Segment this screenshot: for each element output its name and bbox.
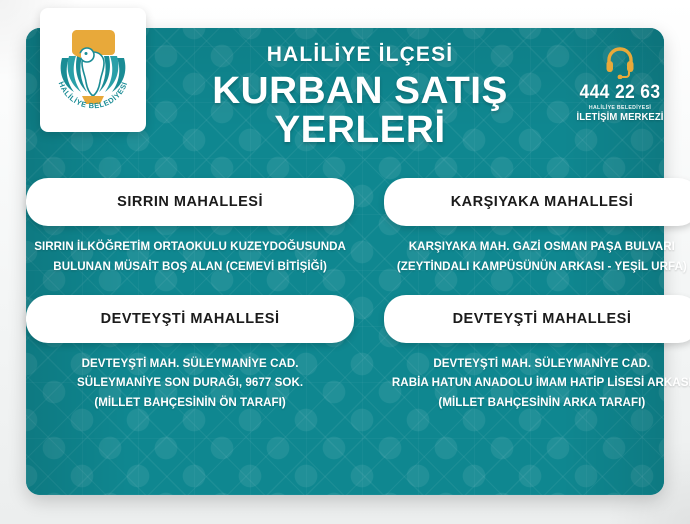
location-address: DEVTEYŞTİ MAH. SÜLEYMANİYE CAD. RABİA HA… bbox=[392, 354, 690, 413]
contact-municipality-label: HALİLİYE BELEDİYESİ bbox=[571, 105, 670, 111]
header-kicker: HALİLİYE İLÇESİ bbox=[160, 44, 560, 65]
location-card: DEVTEYŞTİ MAHALLESİ DEVTEYŞTİ MAH. SÜLEY… bbox=[26, 295, 354, 413]
address-line: SIRRIN İLKÖĞRETİM ORTAOKULU KUZEYDOĞUSUN… bbox=[34, 237, 346, 257]
location-title: DEVTEYŞTİ MAHALLESİ bbox=[101, 311, 280, 327]
address-line: (MİLLET BAHÇESİNİN ÖN TARAFI) bbox=[34, 393, 346, 413]
address-line: KARŞIYAKA MAH. GAZİ OSMAN PAŞA BULVARI bbox=[392, 237, 690, 257]
municipality-logo-plaque: HALİLİYE BELEDİYESİ bbox=[40, 8, 146, 132]
contact-center-label: İLETİŞİM MERKEZİ bbox=[571, 112, 670, 123]
haliliye-belediyesi-logo-icon: HALİLİYE BELEDİYESİ bbox=[50, 22, 136, 118]
location-card: KARŞIYAKA MAHALLESİ KARŞIYAKA MAH. GAZİ … bbox=[384, 178, 690, 277]
location-title-pill[interactable]: DEVTEYŞTİ MAHALLESİ bbox=[26, 295, 354, 343]
location-title-pill[interactable]: SIRRIN MAHALLESİ bbox=[26, 178, 354, 226]
address-line: DEVTEYŞTİ MAH. SÜLEYMANİYE CAD. bbox=[392, 354, 690, 374]
location-address: SIRRIN İLKÖĞRETİM ORTAOKULU KUZEYDOĞUSUN… bbox=[34, 237, 346, 277]
contact-block: 444 22 63 HALİLİYE BELEDİYESİ İLETİŞİM M… bbox=[568, 44, 672, 123]
poster-header: HALİLİYE İLÇESİ KURBAN SATIŞ YERLERİ bbox=[160, 44, 560, 150]
contact-phone-number[interactable]: 444 22 63 bbox=[572, 83, 668, 102]
headset-icon bbox=[568, 44, 672, 80]
page-title: KURBAN SATIŞ YERLERİ bbox=[156, 72, 564, 150]
location-card: SIRRIN MAHALLESİ SIRRIN İLKÖĞRETİM ORTAO… bbox=[26, 178, 354, 277]
address-line: SÜLEYMANİYE SON DURAĞI, 9677 SOK. bbox=[34, 373, 346, 393]
location-title: SIRRIN MAHALLESİ bbox=[117, 194, 263, 210]
location-title-pill[interactable]: DEVTEYŞTİ MAHALLESİ bbox=[384, 295, 690, 343]
location-title: KARŞIYAKA MAHALLESİ bbox=[451, 194, 634, 210]
address-line: (MİLLET BAHÇESİNİN ARKA TARAFI) bbox=[392, 393, 690, 413]
address-line: BULUNAN MÜSAİT BOŞ ALAN (CEMEVİ BİTİŞİĞİ… bbox=[34, 257, 346, 277]
location-title: DEVTEYŞTİ MAHALLESİ bbox=[453, 311, 632, 327]
location-address: KARŞIYAKA MAH. GAZİ OSMAN PAŞA BULVARI (… bbox=[392, 237, 690, 277]
address-line: DEVTEYŞTİ MAH. SÜLEYMANİYE CAD. bbox=[34, 354, 346, 374]
location-address: DEVTEYŞTİ MAH. SÜLEYMANİYE CAD. SÜLEYMAN… bbox=[34, 354, 346, 413]
location-title-pill[interactable]: KARŞIYAKA MAHALLESİ bbox=[384, 178, 690, 226]
poster-canvas: HALİLİYE BELEDİYESİ HALİLİYE İLÇESİ KURB… bbox=[0, 0, 690, 524]
locations-grid: SIRRIN MAHALLESİ SIRRIN İLKÖĞRETİM ORTAO… bbox=[26, 178, 664, 413]
address-line: (ZEYTİNDALI KAMPÜSÜNÜN ARKASI - YEŞİL UR… bbox=[392, 257, 690, 277]
location-card: DEVTEYŞTİ MAHALLESİ DEVTEYŞTİ MAH. SÜLEY… bbox=[384, 295, 690, 413]
address-line: RABİA HATUN ANADOLU İMAM HATİP LİSESİ AR… bbox=[392, 373, 690, 393]
